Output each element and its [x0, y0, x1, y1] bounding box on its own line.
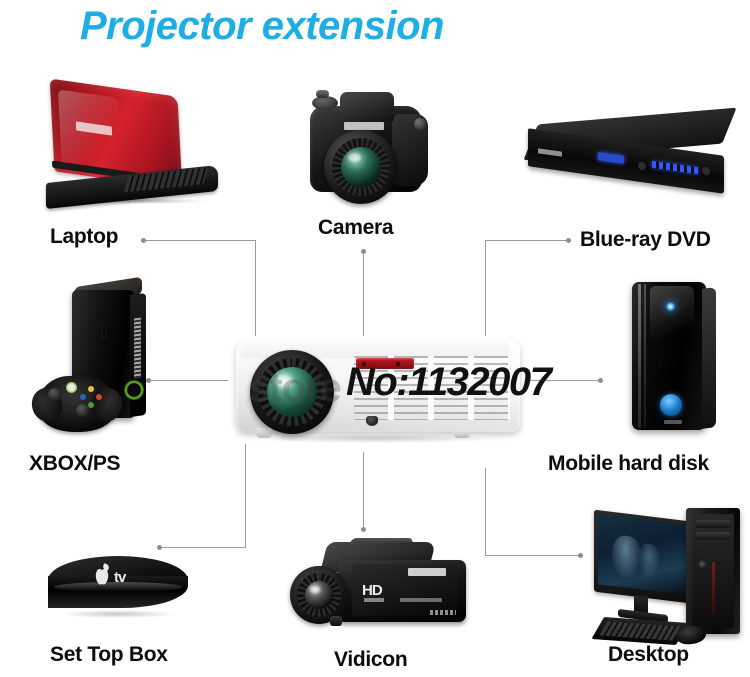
gamepad-a-button: [88, 402, 94, 408]
device-mobile-hard-disk[interactable]: [620, 278, 730, 436]
camcorder-brand-logo: [408, 568, 446, 576]
set-top-box-tv-text: tv: [114, 569, 125, 586]
device-projector[interactable]: [222, 330, 532, 452]
camera-brand-logo: [344, 122, 384, 130]
infographic-canvas: Projector extension Laptop: [0, 0, 750, 677]
camcorder-hdd-tag: [430, 610, 456, 615]
camcorder-handycam-text: [400, 598, 442, 602]
connector-dot-stb: [157, 545, 162, 550]
connector-hdd-h: [526, 380, 600, 381]
connector-dot-desktop: [578, 553, 583, 558]
hdd-brand-logo: [660, 394, 682, 416]
device-set-top-box[interactable]: tv: [38, 552, 198, 628]
console-power-ring: [124, 380, 144, 400]
camcorder-lens-highlight: [310, 586, 320, 593]
hdd-accent-stripe-2: [644, 284, 646, 428]
camera-flash: [414, 118, 426, 130]
screen-game-figure-2: [638, 543, 660, 580]
bluray-knob-left: [638, 161, 646, 170]
device-label-camera: Camera: [318, 216, 393, 240]
device-laptop[interactable]: [34, 86, 224, 208]
connector-laptop-h: [145, 240, 255, 241]
projector-indicator-bar: [356, 358, 414, 369]
connector-stb-h: [162, 547, 246, 548]
device-label-desktop: Desktop: [608, 643, 689, 667]
pc-power-button: [698, 560, 706, 568]
pc-accent-stripe: [712, 562, 715, 614]
device-label-vidicon: Vidicon: [334, 648, 407, 672]
hdd-status-led: [666, 302, 675, 311]
hdd-brand-text: [664, 420, 682, 424]
gamepad-b-button: [96, 394, 102, 400]
device-label-settopbox: Set Top Box: [50, 643, 168, 667]
camera-lens-glass: [341, 147, 381, 187]
camcorder-hd-text: HD: [362, 582, 382, 599]
page-title: Projector extension: [80, 4, 444, 49]
gamepad-y-button: [88, 386, 94, 392]
connector-bluray-v: [485, 240, 486, 344]
device-label-bluray: Blue-ray DVD: [580, 228, 711, 252]
camera-prism: [340, 92, 394, 122]
hdd-gloss-highlight: [650, 286, 694, 352]
connector-vidicon-v: [363, 452, 364, 528]
pc-drive-bay-2: [696, 532, 730, 540]
projector-lens-highlight: [275, 375, 292, 387]
device-desktop-pc[interactable]: [594, 502, 750, 648]
device-bluray-player[interactable]: [526, 112, 736, 204]
device-label-xbox: XBOX/PS: [29, 452, 120, 476]
connector-desktop-v: [485, 468, 486, 556]
camera-mode-dial: [312, 96, 338, 110]
gamepad-guide-button: [66, 382, 77, 393]
connector-desktop-h: [485, 555, 580, 556]
device-camcorder[interactable]: HD: [280, 532, 480, 642]
gamepad-right-stick: [76, 404, 89, 417]
camera-lens-highlight: [348, 153, 361, 162]
connector-stb-v: [245, 444, 246, 548]
pc-drive-bay-1: [696, 520, 730, 528]
connector-camera-v: [363, 253, 364, 339]
gamepad-left-stick: [48, 388, 61, 401]
connector-bluray-h: [485, 240, 568, 241]
hdd-side-edge: [702, 287, 716, 428]
hdd-accent-stripe-1: [638, 284, 641, 428]
device-label-laptop: Laptop: [50, 225, 118, 249]
console-vent: [134, 318, 141, 379]
laptop-shadow: [56, 198, 208, 204]
camera-shutter-button: [316, 90, 329, 98]
projector-shadow: [262, 434, 492, 443]
camcorder-avchd-text: [364, 598, 384, 602]
device-game-console[interactable]: [36, 276, 196, 438]
device-label-hdd: Mobile hard disk: [548, 452, 709, 476]
console-disc-slot: [102, 322, 106, 338]
camcorder-lens-glass: [305, 581, 333, 609]
set-top-box-shadow: [60, 610, 176, 618]
projector-lens-glass: [267, 367, 317, 417]
device-camera[interactable]: [296, 84, 446, 209]
camcorder-microphone: [330, 616, 342, 626]
projector-adjust-knob: [366, 416, 378, 426]
bluray-knob-right: [702, 166, 710, 175]
gamepad-x-button: [80, 394, 86, 400]
